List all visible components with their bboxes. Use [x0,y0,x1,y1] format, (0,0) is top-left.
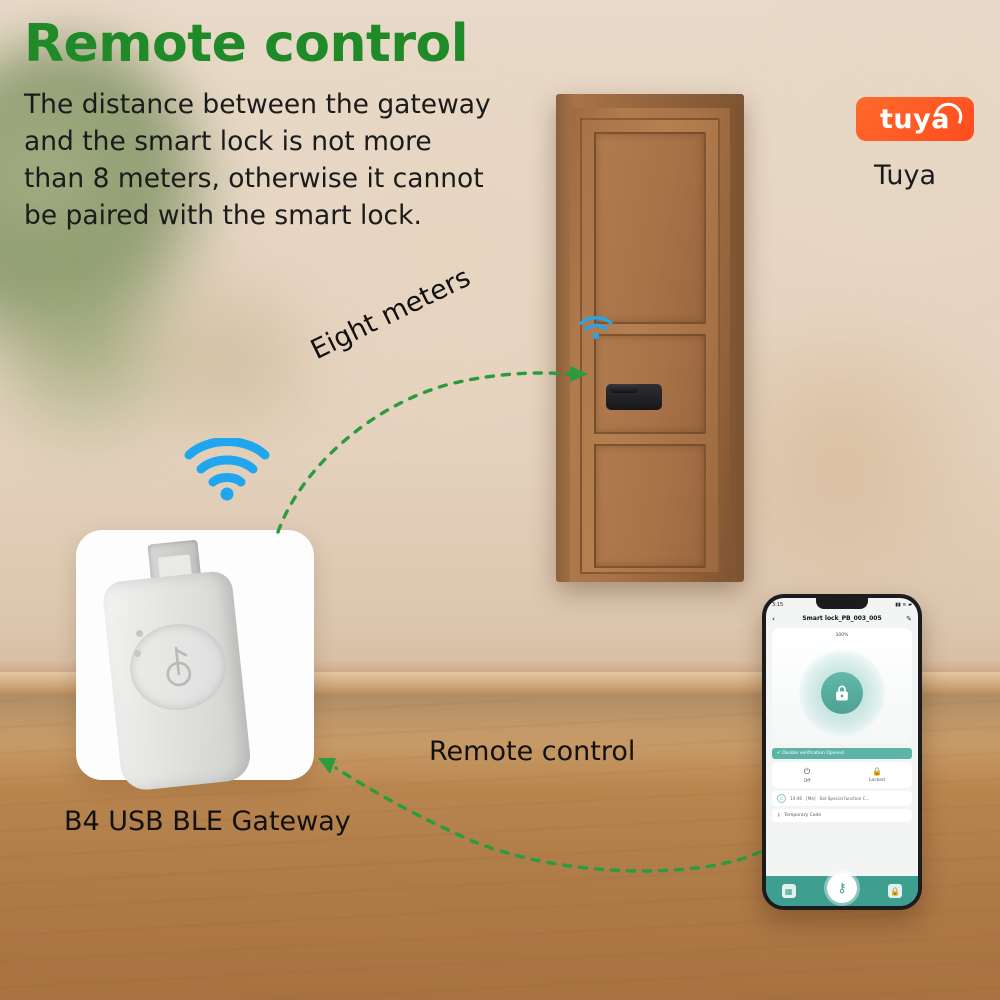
status-icons: ▮▮ ≋ ▰ [895,602,912,608]
lock-closed-icon[interactable]: 🔒 [888,884,902,898]
lock-icon: 🔒 [872,767,882,776]
power-icon: ⏻ [804,767,810,777]
chevron-left-icon[interactable]: ‹ [772,615,775,623]
status-time: 3:15 [772,602,783,608]
phone-page-title: Smart lock_PB_003_005 [802,615,881,622]
bluetooth-gateway-icon [158,642,198,690]
tile-power-label: Off [804,779,811,784]
tile-lock-label: Locked [869,778,885,783]
promo-scene: Remote control The distance between the … [0,0,1000,1000]
usb-led-dot [136,630,143,637]
tile-lock[interactable]: 🔒 Locked [842,762,912,788]
door-inner-border [580,118,720,574]
status-badge-text: Double verification Opened [782,751,844,756]
status-badge: ✔ Double verification Opened [772,748,912,759]
device-control-tiles: ⏻ Off 🔒 Locked [772,762,912,788]
device-status-card: 100% [772,628,912,744]
pencil-icon[interactable]: ✎ [906,615,912,623]
phone-tabbar: ▦ ⚷ 🔒 [766,876,918,906]
wifi-signal-icon [184,438,270,502]
grid-icon[interactable]: ▦ [782,884,796,898]
phone-app-header: ‹ Smart lock_PB_003_005 ✎ [766,611,918,626]
door-handle [610,384,638,393]
door-panel-top [594,132,706,324]
door-panel-bottom [594,444,706,568]
battery-level-label: 100% [836,633,849,638]
tuya-logo-badge: tuya [856,97,974,141]
temporary-code-row[interactable]: ⚷ Temporary Code [772,809,912,822]
usb-led-dot-2 [134,650,141,657]
key-icon: ⚷ [777,813,780,818]
phone-notch [816,598,868,609]
phone-screen: 3:15 ▮▮ ≋ ▰ ‹ Smart lock_PB_003_005 ✎ 10… [766,598,918,906]
gateway-caption: B4 USB BLE Gateway [64,806,351,837]
padlock-icon[interactable] [821,672,863,714]
background-wall-blur-3 [740,0,1000,300]
activity-log-row[interactable]: C 14:46 [Me] Set Special function C... [772,791,912,806]
log-time: 14:46 [790,796,802,801]
log-text: Set Special function C... [820,796,870,801]
description-text: The distance between the gateway and the… [24,86,494,234]
wifi-signal-icon-door [578,314,614,342]
gateway-product-card [76,530,314,780]
clock-icon: C [777,794,786,803]
tuya-caption: Tuya [874,160,936,191]
padlock-glyph [832,683,852,703]
smartphone-mockup: 3:15 ▮▮ ≋ ▰ ‹ Smart lock_PB_003_005 ✎ 10… [762,594,922,910]
log-tag: [Me] [806,796,815,801]
connection-label: Remote control [429,736,635,767]
page-title: Remote control [24,14,468,74]
tile-power[interactable]: ⏻ Off [772,762,842,788]
door-panel-background [570,108,730,582]
unlock-key-icon[interactable]: ⚷ [827,873,857,903]
temporary-code-label: Temporary Code [784,813,821,818]
